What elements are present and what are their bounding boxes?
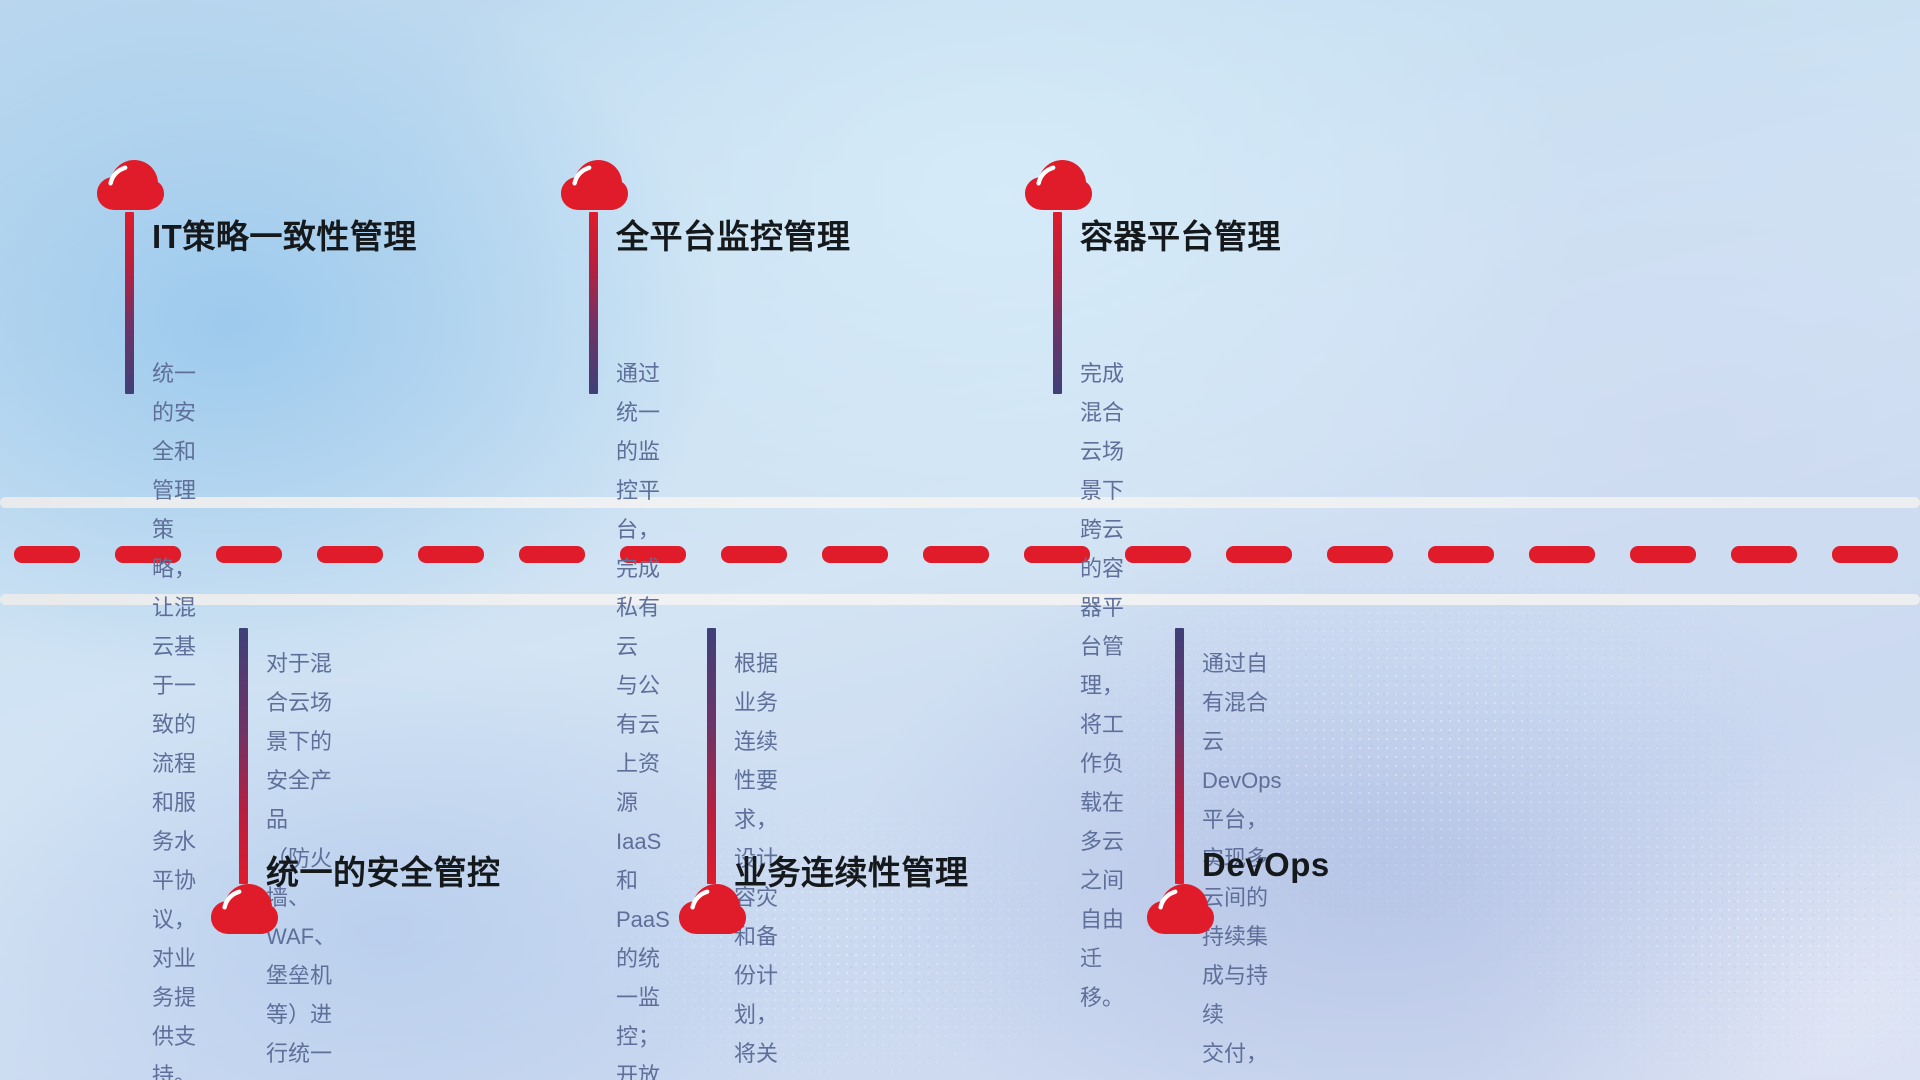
road-edge-top-line: [0, 497, 1920, 508]
card-body-text: 完成混合云场景下跨云的容器平 台管理，将工作负载在多云之间 自由迁移。: [1080, 354, 1124, 1017]
cloud-icon: [96, 160, 164, 212]
road-dash-segment: [721, 546, 787, 563]
card-heading: IT策略一致性管理: [152, 210, 417, 258]
road-dash-segment: [1327, 546, 1393, 563]
pin-stem: [239, 628, 248, 884]
cloud-pin-top-1: [96, 160, 164, 394]
road-dash-segment: [1630, 546, 1696, 563]
road-dash-segment: [1832, 546, 1898, 563]
pin-stem: [1053, 212, 1062, 394]
road-center-dashed-line: [0, 546, 1920, 563]
road-dash-segment: [14, 546, 80, 563]
pin-stem: [589, 212, 598, 394]
road-dash-segment: [418, 546, 484, 563]
cloud-icon: [1024, 160, 1092, 212]
cloud-pin-bottom-1: [210, 628, 278, 936]
road-dash-segment: [216, 546, 282, 563]
cloud-pin-top-3: [1024, 160, 1092, 394]
road-dash-segment: [519, 546, 585, 563]
cloud-pin-bottom-3: [1146, 628, 1214, 936]
cloud-icon: [210, 884, 278, 936]
card-heading: 全平台监控管理: [616, 210, 851, 258]
pin-stem: [707, 628, 716, 884]
pin-stem: [125, 212, 134, 394]
road-edge-bottom-line: [0, 594, 1920, 605]
card-heading: 统一的安全管控: [266, 846, 501, 894]
card-body-text: 通过统一的监控平台，完成私有云 与公有云上资源IaaS和PaaS的统 一监控；开…: [616, 354, 670, 1080]
cloud-pin-bottom-2: [678, 628, 746, 936]
infographic-canvas: IT策略一致性管理 统一的安全和管理策略，让混 云基于一致的流程和服务水平协 议…: [0, 0, 1920, 1080]
card-heading: DevOps: [1202, 846, 1330, 884]
road-dash-segment: [1125, 546, 1191, 563]
card-body-text: 统一的安全和管理策略，让混 云基于一致的流程和服务水平协 议，对业务提供支持。: [152, 354, 196, 1080]
card-heading: 容器平台管理: [1080, 210, 1281, 258]
road-dash-segment: [1731, 546, 1797, 563]
road-dash-segment: [317, 546, 383, 563]
road-dash-segment: [1226, 546, 1292, 563]
road-dash-segment: [822, 546, 888, 563]
cloud-pin-top-2: [560, 160, 628, 394]
cloud-icon: [678, 884, 746, 936]
cloud-icon: [1146, 884, 1214, 936]
card-heading: 业务连续性管理: [734, 846, 969, 894]
road-dash-segment: [1529, 546, 1595, 563]
road-dash-segment: [1428, 546, 1494, 563]
road-dash-segment: [923, 546, 989, 563]
pin-stem: [1175, 628, 1184, 884]
cloud-icon: [560, 160, 628, 212]
